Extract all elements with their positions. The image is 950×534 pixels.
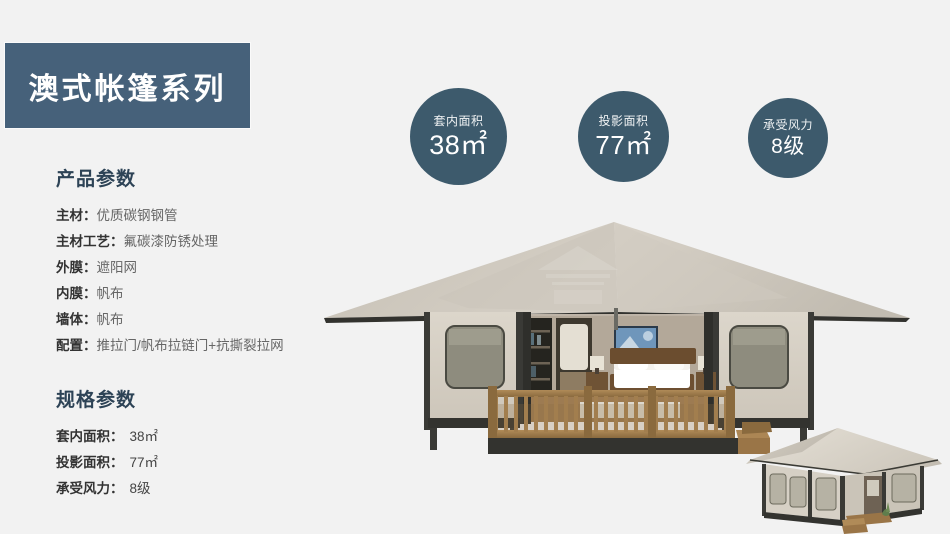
param-row: 外膜：遮阳网 bbox=[56, 255, 356, 281]
series-title-banner: 澳式帐篷系列 bbox=[5, 43, 250, 128]
spec-label: 承受风力： bbox=[56, 481, 124, 496]
series-title-text: 澳式帐篷系列 bbox=[29, 64, 227, 108]
specifications-column: 产品参数 主材：优质碳钢钢管 主材工艺：氟碳漆防锈处理 外膜：遮阳网 内膜：帆布… bbox=[56, 164, 356, 502]
param-value: 氟碳漆防锈处理 bbox=[124, 234, 219, 249]
stat-circles-group: 套内面积 38㎡ 投影面积 77㎡ 承受风力 8级 bbox=[410, 88, 870, 203]
spec-label: 套内面积： bbox=[56, 429, 124, 444]
param-value: 帆布 bbox=[97, 312, 124, 327]
param-label: 主材工艺： bbox=[56, 234, 124, 249]
tent-roof bbox=[324, 222, 910, 323]
stat-circle-value: 38㎡ bbox=[429, 132, 488, 159]
param-row: 主材工艺：氟碳漆防锈处理 bbox=[56, 229, 356, 255]
param-row: 墙体：帆布 bbox=[56, 307, 356, 333]
param-value: 遮阳网 bbox=[97, 260, 138, 275]
stat-circle-value: 77㎡ bbox=[595, 132, 651, 158]
param-label: 外膜： bbox=[56, 260, 97, 275]
spec-row: 套内面积：38㎡ bbox=[56, 424, 356, 450]
product-spec-page: 澳式帐篷系列 产品参数 主材：优质碳钢钢管 主材工艺：氟碳漆防锈处理 外膜：遮阳… bbox=[0, 0, 950, 534]
stat-circle-value: 8级 bbox=[771, 136, 805, 157]
overlap-step-corner bbox=[742, 422, 772, 434]
spec-value: 8级 bbox=[124, 481, 151, 496]
spec-value: 38㎡ bbox=[124, 429, 159, 444]
stat-circle-interior-area: 套内面积 38㎡ bbox=[410, 88, 507, 185]
spec-row: 承受风力：8级 bbox=[56, 476, 356, 502]
spec-value: 77㎡ bbox=[124, 455, 159, 470]
param-label: 配置： bbox=[56, 338, 97, 353]
param-row: 内膜：帆布 bbox=[56, 281, 356, 307]
spec-parameters-heading: 规格参数 bbox=[56, 385, 356, 412]
param-row: 配置：推拉门/帆布拉链门+抗撕裂拉网 bbox=[56, 333, 356, 359]
spec-row: 投影面积：77㎡ bbox=[56, 450, 356, 476]
param-label: 主材： bbox=[56, 208, 97, 223]
inset-walls bbox=[762, 464, 924, 526]
param-value: 推拉门/帆布拉链门+抗撕裂拉网 bbox=[97, 338, 284, 353]
stat-circle-label: 承受风力 bbox=[763, 119, 813, 131]
stat-circle-projected-area: 投影面积 77㎡ bbox=[578, 91, 669, 182]
stat-circle-label: 投影面积 bbox=[598, 115, 648, 127]
stat-circle-label: 套内面积 bbox=[433, 115, 483, 127]
param-label: 墙体： bbox=[56, 312, 97, 327]
tent-angled-view-image bbox=[742, 416, 947, 534]
deck-railing bbox=[488, 386, 770, 454]
param-label: 内膜： bbox=[56, 286, 97, 301]
param-value: 优质碳钢钢管 bbox=[97, 208, 178, 223]
product-parameters-heading: 产品参数 bbox=[56, 164, 356, 191]
stat-circle-wind-resistance: 承受风力 8级 bbox=[748, 98, 828, 178]
spec-label: 投影面积： bbox=[56, 455, 124, 470]
param-value: 帆布 bbox=[97, 286, 124, 301]
param-row: 主材：优质碳钢钢管 bbox=[56, 203, 356, 229]
